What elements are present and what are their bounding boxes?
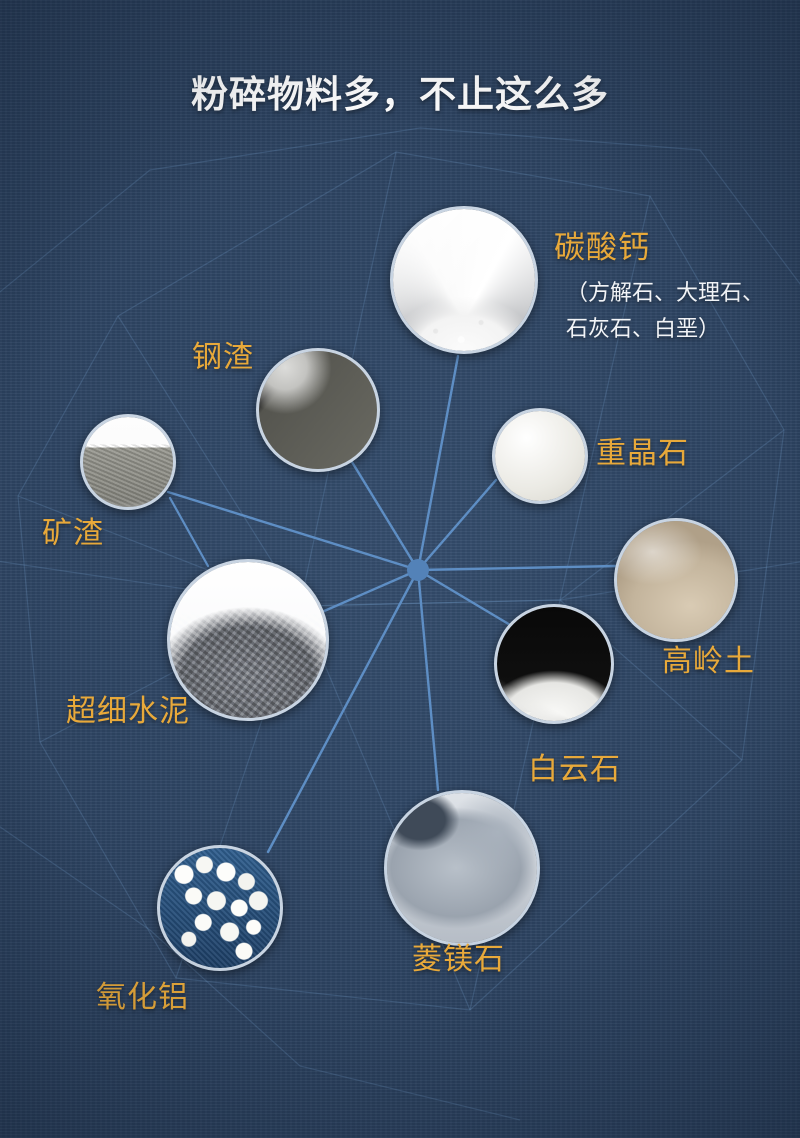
label-aluminium-oxide: 氧化铝 [96,972,189,1016]
infographic-page: 粉碎物料多，不止这么多 碳酸钙 （方解石、大理石、 石灰石、白垩） 钢渣 矿渣 … [0,0,800,1138]
grey-slag-powder-photo [83,417,173,507]
label-magnesite: 菱镁石 [412,934,505,978]
barite-rock-photo [495,411,585,501]
alumina-balls-photo [160,848,280,968]
node-ultrafine-cement[interactable] [167,559,329,721]
granular-steel-slag-photo [259,351,377,469]
sublabel-calcium-carbonate-line2: 石灰石、白垩） [566,311,720,347]
node-aluminium-oxide[interactable] [157,845,283,971]
white-dolomite-photo [497,607,611,721]
node-dolomite[interactable] [494,604,614,724]
page-title: 粉碎物料多，不止这么多 [0,64,800,118]
hub-node[interactable] [407,559,429,581]
label-mineral-slag: 矿渣 [42,508,104,552]
magnesite-rock-photo [387,793,537,943]
node-steel-slag[interactable] [256,348,380,472]
node-magnesite[interactable] [384,790,540,946]
secondary-link-lines [170,498,208,566]
label-dolomite: 白云石 [528,744,621,788]
label-barite: 重晶石 [596,428,689,472]
label-calcium-carbonate: 碳酸钙 [554,222,650,267]
node-mineral-slag[interactable] [80,414,176,510]
node-kaolin[interactable] [614,518,738,642]
label-ultrafine-cement: 超细水泥 [66,686,190,730]
label-steel-slag: 钢渣 [192,332,254,376]
sublabel-calcium-carbonate-line1: （方解石、大理石、 [566,275,764,311]
kaolin-lumps-photo [617,521,735,639]
node-calcium-carbonate[interactable] [390,206,538,354]
grey-cement-heap-photo [170,562,326,718]
white-limestone-powder-photo [393,209,535,351]
label-kaolin: 高岭土 [662,636,755,680]
node-barite[interactable] [492,408,588,504]
